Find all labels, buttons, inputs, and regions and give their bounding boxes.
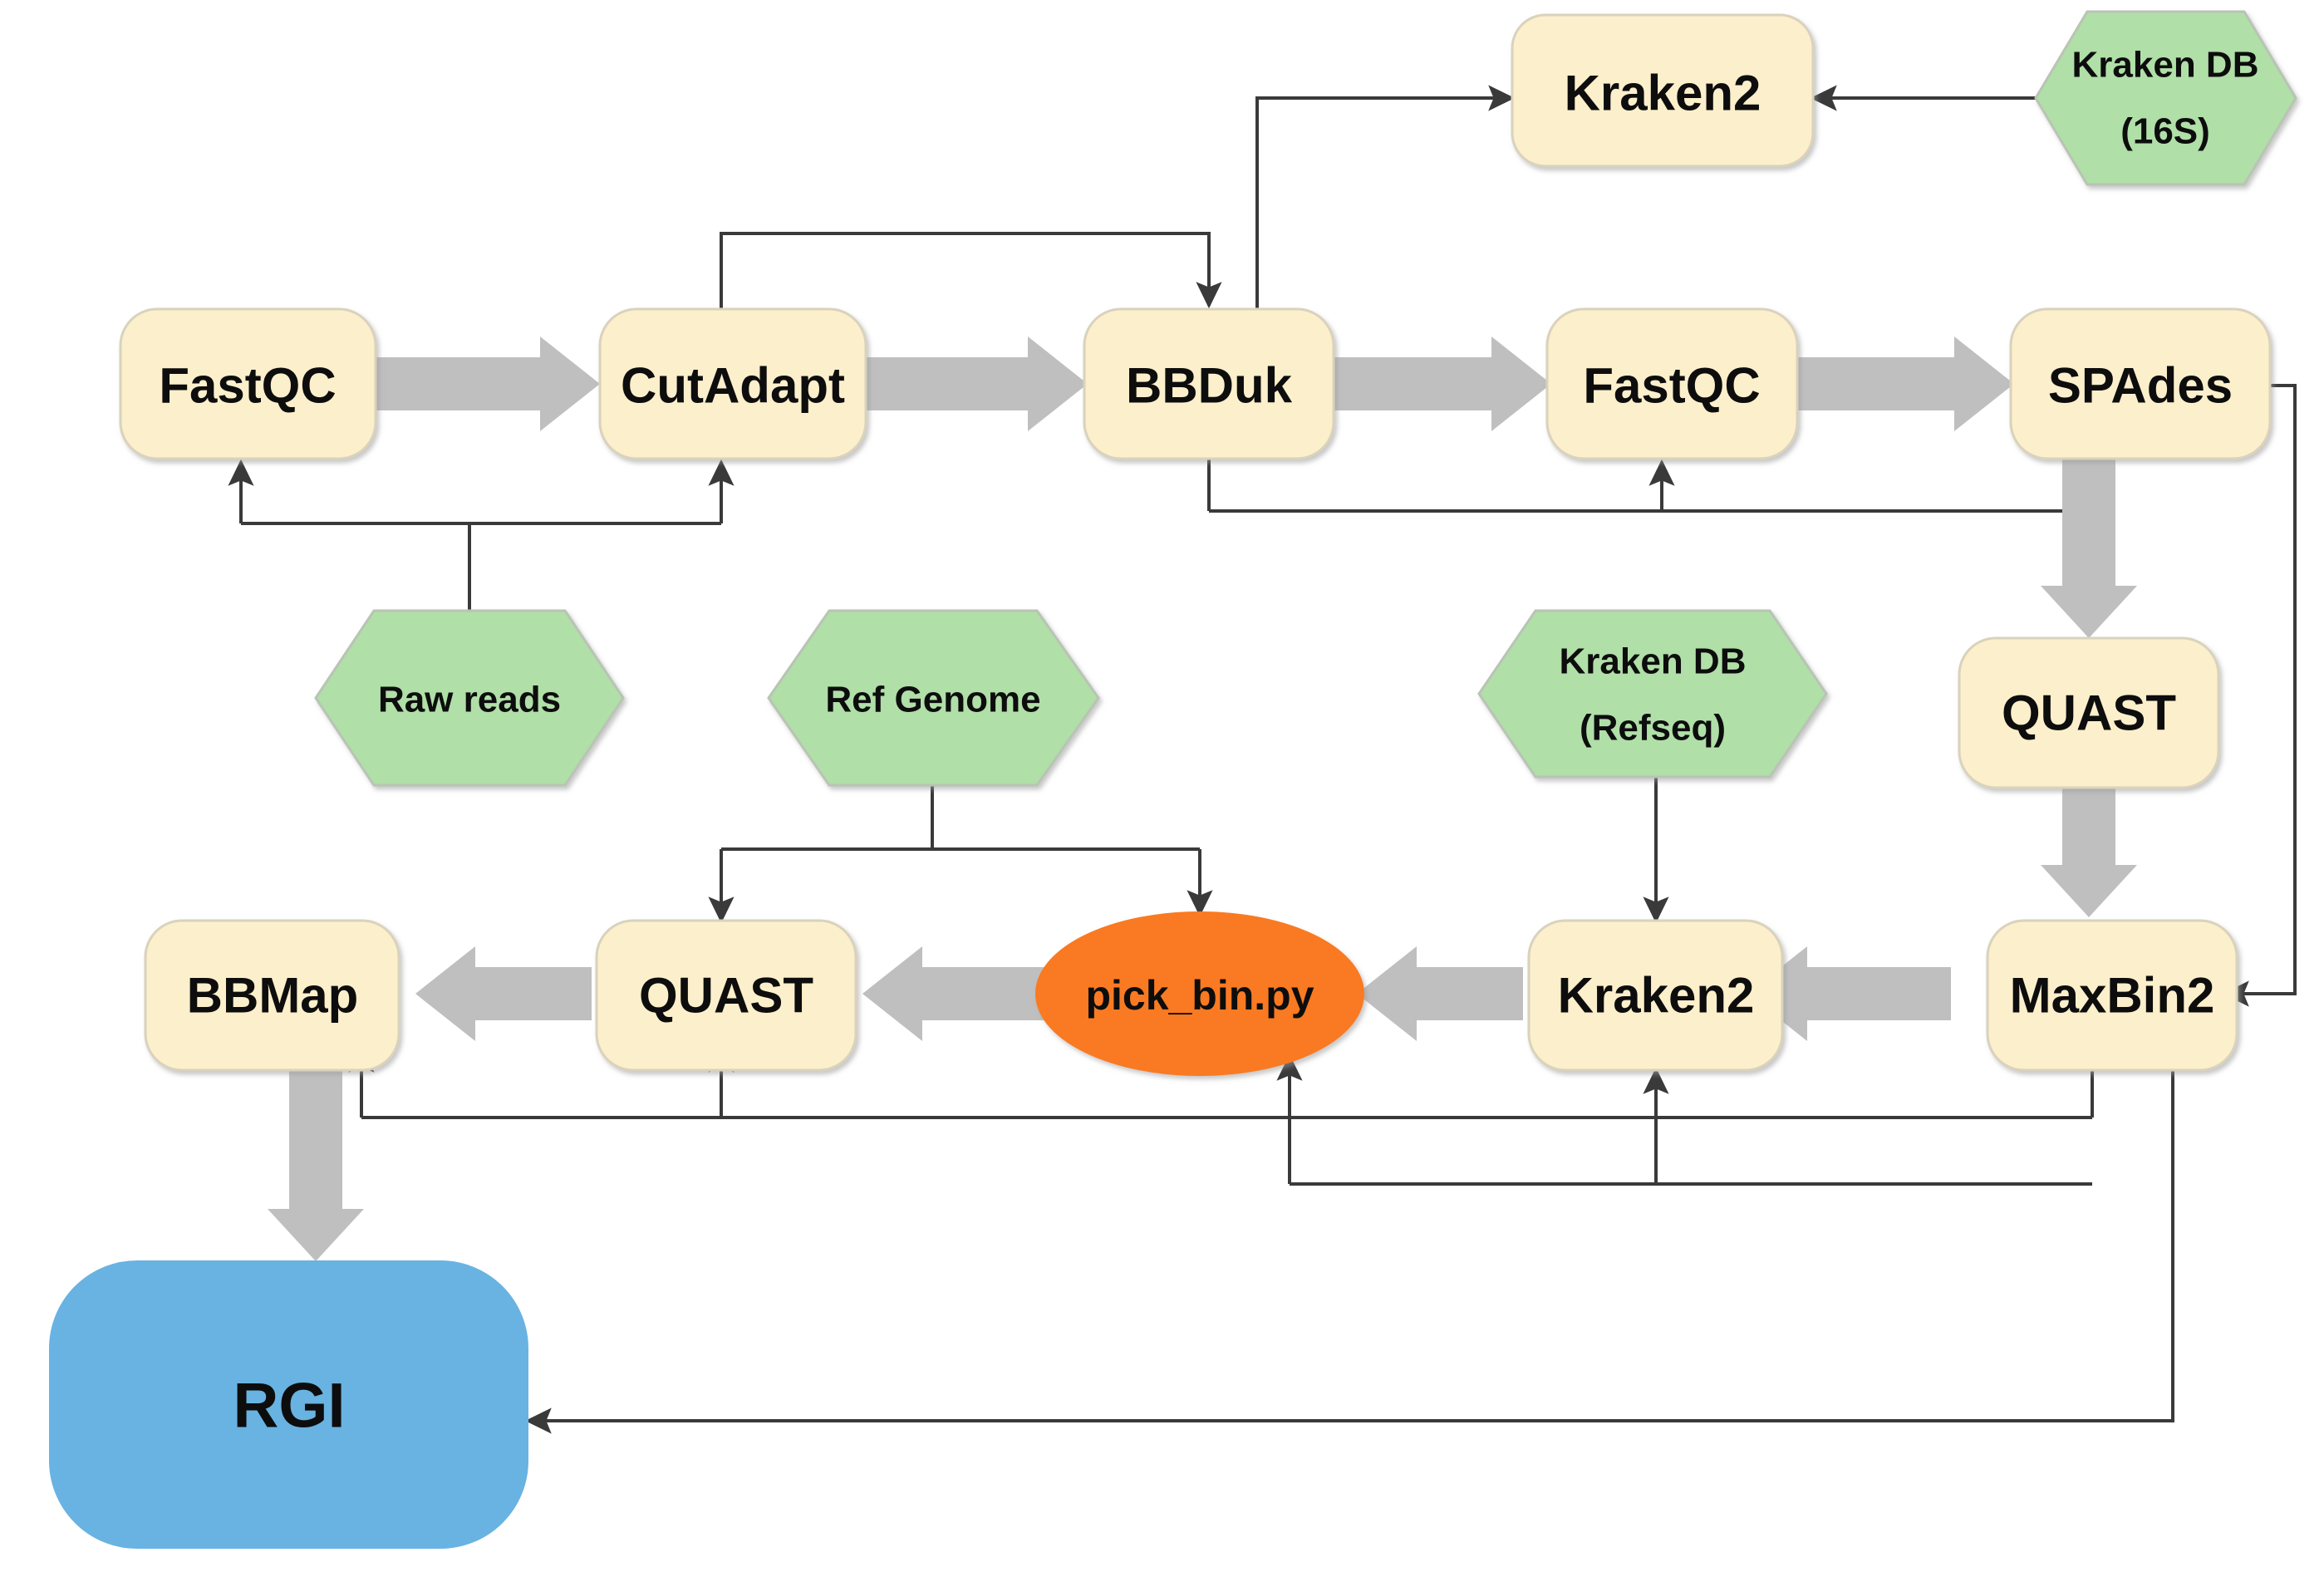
arrow-quast-bottom-to-bbmap (415, 946, 592, 1041)
node-kraken-db-16s-label-line1: Kraken DB (2072, 45, 2259, 86)
pipeline-canvas: Kraken2 Kraken DB (16S) FastQC CutAdapt … (0, 0, 2324, 1572)
node-kraken2-top[interactable]: Kraken2 (1512, 15, 1813, 166)
arrow-cutadapt-to-bbduk (866, 337, 1088, 431)
node-kraken-db-refseq-label-line1: Kraken DB (1560, 641, 1747, 682)
node-kraken2-bottom-label: Kraken2 (1558, 968, 1755, 1024)
node-bbmap-label: BBMap (187, 968, 359, 1024)
node-fastqc-2[interactable]: FastQC (1547, 309, 1797, 459)
node-quast-right-label: QUAST (2002, 685, 2176, 741)
node-pick-bin-label: pick_bin.py (1085, 972, 1314, 1019)
node-maxbin2[interactable]: MaxBin2 (1987, 921, 2237, 1070)
node-bbduk[interactable]: BBDuk (1084, 309, 1334, 459)
pipeline-diagram: Kraken2 Kraken DB (16S) FastQC CutAdapt … (0, 0, 2324, 1572)
thick-flow-arrows (268, 337, 2137, 1261)
node-bbduk-label: BBDuk (1126, 358, 1293, 414)
node-fastqc-2-label: FastQC (1583, 358, 1760, 414)
node-maxbin2-label: MaxBin2 (2010, 968, 2215, 1024)
node-kraken-db-refseq[interactable]: Kraken DB (Refseq) (1479, 611, 1826, 777)
node-pick-bin[interactable]: pick_bin.py (1036, 912, 1363, 1075)
node-kraken2-bottom[interactable]: Kraken2 (1529, 921, 1782, 1070)
node-kraken-db-16s[interactable]: Kraken DB (16S) (2036, 12, 2296, 184)
node-fastqc-1[interactable]: FastQC (120, 309, 376, 459)
node-quast-bottom-label: QUAST (639, 968, 813, 1024)
node-bbmap[interactable]: BBMap (145, 921, 399, 1070)
arrow-bbduk-to-fastqc2 (1334, 337, 1551, 431)
node-raw-reads-label: Raw reads (378, 680, 561, 720)
arrow-fastqc1-to-cutadapt (376, 337, 600, 431)
arrow-bbmap-to-rgi (268, 1049, 364, 1261)
node-cutadapt-label: CutAdapt (621, 358, 845, 414)
node-rgi-label: RGI (233, 1371, 345, 1442)
node-ref-genome[interactable]: Ref Genome (769, 611, 1098, 785)
arrow-kraken2-bottom-to-pickbin (1357, 946, 1523, 1041)
edge-maxbin2-to-rgi (528, 1070, 2173, 1421)
arrow-fastqc2-to-spades (1797, 337, 2014, 431)
edge-cutadapt-to-bbduk-loop (721, 233, 1209, 309)
node-cutadapt[interactable]: CutAdapt (600, 309, 866, 459)
edge-bbduk-to-kraken2-top (1257, 98, 1512, 309)
node-spades[interactable]: SPAdes (2011, 309, 2270, 459)
node-quast-bottom[interactable]: QUAST (597, 921, 856, 1070)
node-fastqc-1-label: FastQC (159, 358, 336, 414)
node-raw-reads[interactable]: Raw reads (316, 611, 623, 785)
node-ref-genome-label: Ref Genome (825, 680, 1040, 720)
arrow-spades-to-quast-right (2041, 459, 2137, 638)
node-kraken-db-refseq-label-line2: (Refseq) (1580, 708, 1726, 749)
node-spades-label: SPAdes (2048, 358, 2233, 414)
node-rgi[interactable]: RGI (50, 1261, 528, 1548)
node-kraken2-top-label: Kraken2 (1565, 66, 1761, 121)
arrow-pickbin-to-quast-bottom (862, 946, 1051, 1041)
node-quast-right[interactable]: QUAST (1959, 638, 2218, 788)
node-kraken-db-16s-label-line2: (16S) (2120, 111, 2210, 152)
